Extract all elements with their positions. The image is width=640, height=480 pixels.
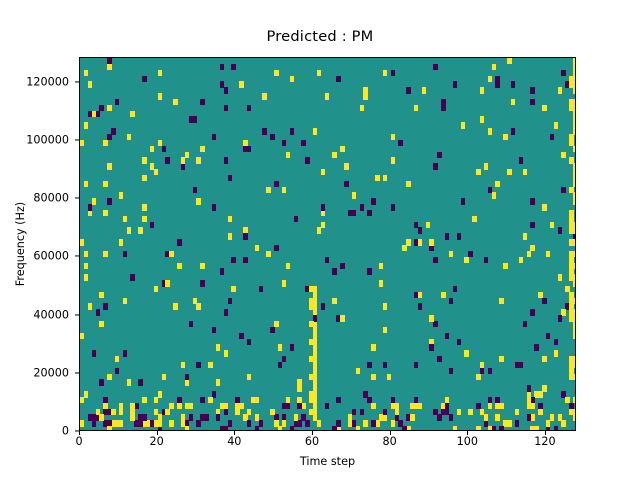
heatmap-cell (530, 414, 534, 420)
heatmap-cell (301, 403, 305, 409)
heatmap-cell (309, 409, 313, 415)
heatmap-cell (294, 414, 298, 420)
heatmap-cell (573, 414, 576, 420)
heatmap-cell (127, 227, 131, 233)
heatmap-cell (200, 397, 204, 403)
heatmap-cell (111, 128, 115, 134)
heatmap-cell (391, 70, 395, 76)
heatmap-cell (375, 420, 379, 426)
heatmap-cell (92, 420, 96, 426)
heatmap-cell (561, 70, 565, 76)
heatmap-cell (130, 274, 134, 280)
heatmap-cell (212, 327, 216, 333)
heatmap-cell (546, 251, 550, 257)
heatmap-cell (185, 374, 189, 380)
heatmap-cell (313, 128, 317, 134)
heatmap-cell (530, 222, 534, 228)
heatmap-cell (445, 409, 449, 415)
heatmap-cell (270, 327, 274, 333)
heatmap-cell (391, 204, 395, 210)
heatmap-cell (196, 157, 200, 163)
heatmap-cell (383, 362, 387, 368)
heatmap-cell (569, 368, 573, 374)
heatmap-cell (142, 204, 146, 210)
heatmap-cell (313, 298, 317, 304)
heatmap-cell (107, 374, 111, 380)
heatmap-cell (507, 58, 511, 64)
heatmap-cell (282, 356, 286, 362)
heatmap-cell (375, 175, 379, 181)
heatmap-cell (235, 409, 239, 415)
heatmap-cell (88, 204, 92, 210)
heatmap-cell (550, 414, 554, 420)
heatmap-cell (228, 216, 232, 222)
heatmap-cell (480, 87, 484, 93)
heatmap-cell (573, 128, 576, 134)
heatmap-cell (196, 303, 200, 309)
heatmap-cell (228, 420, 232, 426)
heatmap-cell (554, 339, 558, 345)
heatmap-cell (208, 397, 212, 403)
y-axis-tick-labels: 020000400006000080000100000120000 (0, 0, 79, 480)
x-axis-tick-label: 0 (49, 435, 109, 448)
heatmap-cell (119, 409, 123, 415)
heatmap-cell (542, 204, 546, 210)
heatmap-cell (274, 181, 278, 187)
heatmap-cell (278, 344, 282, 350)
heatmap-cell (573, 111, 576, 117)
heatmap-cell (103, 181, 107, 187)
heatmap-cell (92, 350, 96, 356)
heatmap-cell (99, 321, 103, 327)
heatmap-cell (103, 303, 107, 309)
heatmap-cell (472, 216, 476, 222)
x-axis-tick-label: 40 (204, 435, 264, 448)
heatmap-cell (468, 251, 472, 257)
heatmap-cell (569, 268, 573, 274)
heatmap-cell (169, 420, 173, 426)
heatmap-cell (84, 263, 88, 269)
heatmap-cell (228, 298, 232, 304)
heatmap-cell (243, 257, 247, 263)
heatmap-cell (410, 414, 414, 420)
heatmap-cell (433, 321, 437, 327)
heatmap-cell (216, 414, 220, 420)
heatmap-cell (340, 146, 344, 152)
heatmap-cell (530, 309, 534, 315)
heatmap-cell (88, 210, 92, 216)
heatmap-cell (511, 99, 515, 105)
heatmap-cell (371, 198, 375, 204)
heatmap-cell (247, 146, 251, 152)
heatmap-cell (573, 327, 576, 333)
heatmap-cell (158, 391, 162, 397)
heatmap-cell (239, 403, 243, 409)
heatmap-cell (107, 105, 111, 111)
heatmap-cell (542, 356, 546, 362)
heatmap-cell (569, 315, 573, 321)
heatmap-cell (262, 93, 266, 99)
heatmap-cell (573, 333, 576, 339)
heatmap-cell (383, 414, 387, 420)
heatmap-cell (387, 374, 391, 380)
heatmap-cell (519, 257, 523, 263)
heatmap-cell (360, 105, 364, 111)
heatmap-cell (107, 134, 111, 140)
heatmap-cell (321, 222, 325, 228)
heatmap-cell (154, 409, 158, 415)
heatmap-cell (561, 152, 565, 158)
heatmap-cell (569, 303, 573, 309)
heatmap-cell (356, 368, 360, 374)
heatmap-cell (317, 70, 321, 76)
heatmap-cell (80, 333, 84, 339)
y-axis-label: Frequency (Hz) (14, 57, 32, 431)
heatmap-cell (391, 157, 395, 163)
heatmap-cell (367, 362, 371, 368)
heatmap-cell (99, 414, 103, 420)
heatmap-cell (363, 93, 367, 99)
heatmap-cell (383, 327, 387, 333)
heatmap-cell (103, 140, 107, 146)
heatmap-cell (414, 239, 418, 245)
heatmap-cell (484, 163, 488, 169)
heatmap-cell (274, 70, 278, 76)
heatmap-cell (429, 239, 433, 245)
heatmap-cell (523, 169, 527, 175)
heatmap-cell (196, 420, 200, 426)
heatmap-cell (530, 198, 534, 204)
heatmap-cell (321, 303, 325, 309)
heatmap-cell (499, 298, 503, 304)
heatmap-cell (309, 374, 313, 380)
heatmap-cell (476, 169, 480, 175)
heatmap-cell (185, 152, 189, 158)
heatmap-cell (426, 222, 430, 228)
heatmap-cell (305, 420, 309, 426)
heatmap-cell (158, 93, 162, 99)
heatmap-cell (573, 251, 576, 257)
heatmap-cell (332, 268, 336, 274)
heatmap-cell (488, 76, 492, 82)
heatmap-cell (530, 87, 534, 93)
heatmap-cell (266, 187, 270, 193)
heatmap-cell (484, 414, 488, 420)
heatmap-cell (360, 204, 364, 210)
heatmap-cell (243, 233, 247, 239)
heatmap-cell (371, 403, 375, 409)
heatmap-grid (80, 58, 575, 430)
heatmap-cell (573, 70, 576, 76)
heatmap-cell (344, 163, 348, 169)
heatmap-cell (453, 81, 457, 87)
heatmap-cell (546, 333, 550, 339)
heatmap-cell (569, 362, 573, 368)
heatmap-cell (313, 385, 317, 391)
heatmap-cell (480, 368, 484, 374)
heatmap-cell (200, 99, 204, 105)
heatmap-cell (569, 239, 573, 245)
heatmap-cell (220, 64, 224, 70)
matplotlib-figure: Predicted : PM 0200004000060000800001000… (0, 0, 640, 480)
heatmap-cell (142, 414, 146, 420)
heatmap-cell (503, 263, 507, 269)
heatmap-cell (476, 403, 480, 409)
heatmap-cell (360, 409, 364, 415)
heatmap-cell (193, 116, 197, 122)
heatmap-cell (325, 403, 329, 409)
heatmap-cell (173, 303, 177, 309)
heatmap-cell (200, 280, 204, 286)
heatmap-cell (488, 397, 492, 403)
heatmap-cell (103, 251, 107, 257)
heatmap-cell (309, 356, 313, 362)
heatmap-cell (294, 216, 298, 222)
heatmap-cell (200, 146, 204, 152)
heatmap-cell (437, 356, 441, 362)
heatmap-cell (398, 140, 402, 146)
heatmap-cell (449, 368, 453, 374)
heatmap-cell (569, 227, 573, 233)
heatmap-cell (169, 251, 173, 257)
heatmap-cell (220, 81, 224, 87)
heatmap-cell (480, 116, 484, 122)
heatmap-cell (158, 414, 162, 420)
heatmap-cell (569, 222, 573, 228)
heatmap-cell (309, 303, 313, 309)
heatmap-cell (437, 414, 441, 420)
heatmap-cell (115, 356, 119, 362)
heatmap-cell (379, 263, 383, 269)
heatmap-cell (290, 344, 294, 350)
heatmap-cell (92, 198, 96, 204)
heatmap-cell (243, 146, 247, 152)
heatmap-cell (383, 70, 387, 76)
heatmap-cell (115, 368, 119, 374)
heatmap-cell (173, 99, 177, 105)
heatmap-cell (569, 105, 573, 111)
heatmap-cell (569, 298, 573, 304)
heatmap-cell (103, 210, 107, 216)
heatmap-cell (212, 391, 216, 397)
heatmap-cell (449, 414, 453, 420)
heatmap-cell (243, 140, 247, 146)
heatmap-cell (130, 414, 134, 420)
heatmap-cell (558, 227, 562, 233)
heatmap-cell (515, 420, 519, 426)
heatmap-cell (224, 309, 228, 315)
heatmap-cell (309, 391, 313, 397)
heatmap-cell (418, 292, 422, 298)
heatmap-cell (457, 339, 461, 345)
heatmap-cell (80, 239, 84, 245)
heatmap-cell (317, 227, 321, 233)
heatmap-cell (282, 140, 286, 146)
heatmap-cell (457, 409, 461, 415)
heatmap-cell (352, 409, 356, 415)
heatmap-cell (433, 64, 437, 70)
heatmap-cell (507, 420, 511, 426)
x-axis-tick-label: 100 (437, 435, 497, 448)
heatmap-cell (162, 374, 166, 380)
heatmap-cell (569, 356, 573, 362)
heatmap-cell (80, 397, 84, 403)
heatmap-cell (134, 403, 138, 409)
heatmap-cell (313, 327, 317, 333)
heatmap-cell (177, 403, 181, 409)
heatmap-cell (569, 409, 573, 415)
heatmap-cell (239, 81, 243, 87)
heatmap-cell (538, 292, 542, 298)
heatmap-cell (228, 175, 232, 181)
heatmap-cell (80, 140, 84, 146)
heatmap-cell (154, 420, 158, 426)
heatmap-cell (165, 157, 169, 163)
heatmap-cell (336, 397, 340, 403)
heatmap-cell (530, 245, 534, 251)
heatmap-cell (119, 239, 123, 245)
heatmap-cell (127, 134, 131, 140)
heatmap-cell (259, 420, 263, 426)
heatmap-cell (99, 379, 103, 385)
heatmap-cell (538, 409, 542, 415)
heatmap-cell (99, 292, 103, 298)
heatmap-cell (527, 251, 531, 257)
heatmap-cell (317, 420, 321, 426)
heatmap-cell (488, 187, 492, 193)
heatmap-cell (495, 181, 499, 187)
heatmap-cell (224, 350, 228, 356)
heatmap-cell (519, 157, 523, 163)
heatmap-cell (573, 321, 576, 327)
heatmap-cell (422, 87, 426, 93)
heatmap-cell (103, 409, 107, 415)
heatmap-cell (569, 187, 573, 193)
heatmap-cell (181, 362, 185, 368)
heatmap-cell (150, 163, 154, 169)
heatmap-cell (391, 420, 395, 426)
heatmap-cell (259, 286, 263, 292)
heatmap-cell (282, 420, 286, 426)
heatmap-cell (383, 175, 387, 181)
heatmap-cell (441, 292, 445, 298)
heatmap-cell (231, 257, 235, 263)
heatmap-cell (150, 420, 154, 426)
heatmap-cell (453, 286, 457, 292)
heatmap-cell (569, 134, 573, 140)
heatmap-cell (499, 356, 503, 362)
heatmap-cell (561, 187, 565, 193)
heatmap-cell (488, 128, 492, 134)
heatmap-cell (441, 105, 445, 111)
heatmap-cell (255, 245, 259, 251)
heatmap-cell (290, 76, 294, 82)
heatmap-cell (344, 181, 348, 187)
heatmap-cell (290, 128, 294, 134)
heatmap-cell (224, 105, 228, 111)
heatmap-cell (468, 409, 472, 415)
heatmap-cell (321, 210, 325, 216)
heatmap-cell (270, 134, 274, 140)
heatmap-cell (96, 111, 100, 117)
heatmap-cell (313, 303, 317, 309)
heatmap-cell (142, 175, 146, 181)
heatmap-cell (573, 280, 576, 286)
heatmap-cell (379, 414, 383, 420)
heatmap-cell (569, 157, 573, 163)
heatmap-cell (429, 344, 433, 350)
heatmap-cell (383, 303, 387, 309)
heatmap-cell (84, 181, 88, 187)
heatmap-cell (558, 87, 562, 93)
heatmap-cell (204, 414, 208, 420)
heatmap-cell (383, 409, 387, 415)
heatmap-cell (542, 105, 546, 111)
heatmap-cell (573, 146, 576, 152)
heatmap-cell (406, 239, 410, 245)
heatmap-cell (402, 245, 406, 251)
heatmap-cell (527, 414, 531, 420)
heatmap-cell (123, 350, 127, 356)
heatmap-cell (573, 87, 576, 93)
heatmap-cell (247, 409, 251, 415)
heatmap-cell (395, 414, 399, 420)
heatmap-cell (224, 157, 228, 163)
heatmap-cell (158, 140, 162, 146)
heatmap-cell (464, 257, 468, 263)
heatmap-cell (371, 420, 375, 426)
heatmap-cell (177, 239, 181, 245)
heatmap-cell (309, 321, 313, 327)
heatmap-cell (262, 128, 266, 134)
heatmap-cell (492, 64, 496, 70)
heatmap-cell (573, 169, 576, 175)
heatmap-cell (251, 397, 255, 403)
heatmap-cell (84, 274, 88, 280)
heatmap-cell (534, 391, 538, 397)
heatmap-cell (503, 134, 507, 140)
heatmap-cell (313, 286, 317, 292)
heatmap-cell (433, 163, 437, 169)
heatmap-cell (410, 403, 414, 409)
heatmap-cell (495, 414, 499, 420)
heatmap-cell (523, 233, 527, 239)
heatmap-cell (461, 198, 465, 204)
heatmap-cell (200, 414, 204, 420)
heatmap-cell (158, 70, 162, 76)
heatmap-cell (569, 374, 573, 380)
heatmap-cell (340, 315, 344, 321)
heatmap-cell (573, 198, 576, 204)
heatmap-cell (527, 385, 531, 391)
heatmap-cell (297, 379, 301, 385)
heatmap-cell (569, 140, 573, 146)
heatmap-cell (321, 169, 325, 175)
heatmap-cell (488, 403, 492, 409)
heatmap-cell (313, 350, 317, 356)
heatmap-cell (138, 227, 142, 233)
heatmap-cell (84, 391, 88, 397)
heatmap-cell (573, 163, 576, 169)
heatmap-cell (158, 420, 162, 426)
heatmap-cell (212, 204, 216, 210)
heatmap-cell (88, 303, 92, 309)
heatmap-cell (519, 362, 523, 368)
heatmap-cell (352, 210, 356, 216)
heatmap-cell (406, 87, 410, 93)
heatmap-cell (305, 157, 309, 163)
heatmap-cell (367, 210, 371, 216)
